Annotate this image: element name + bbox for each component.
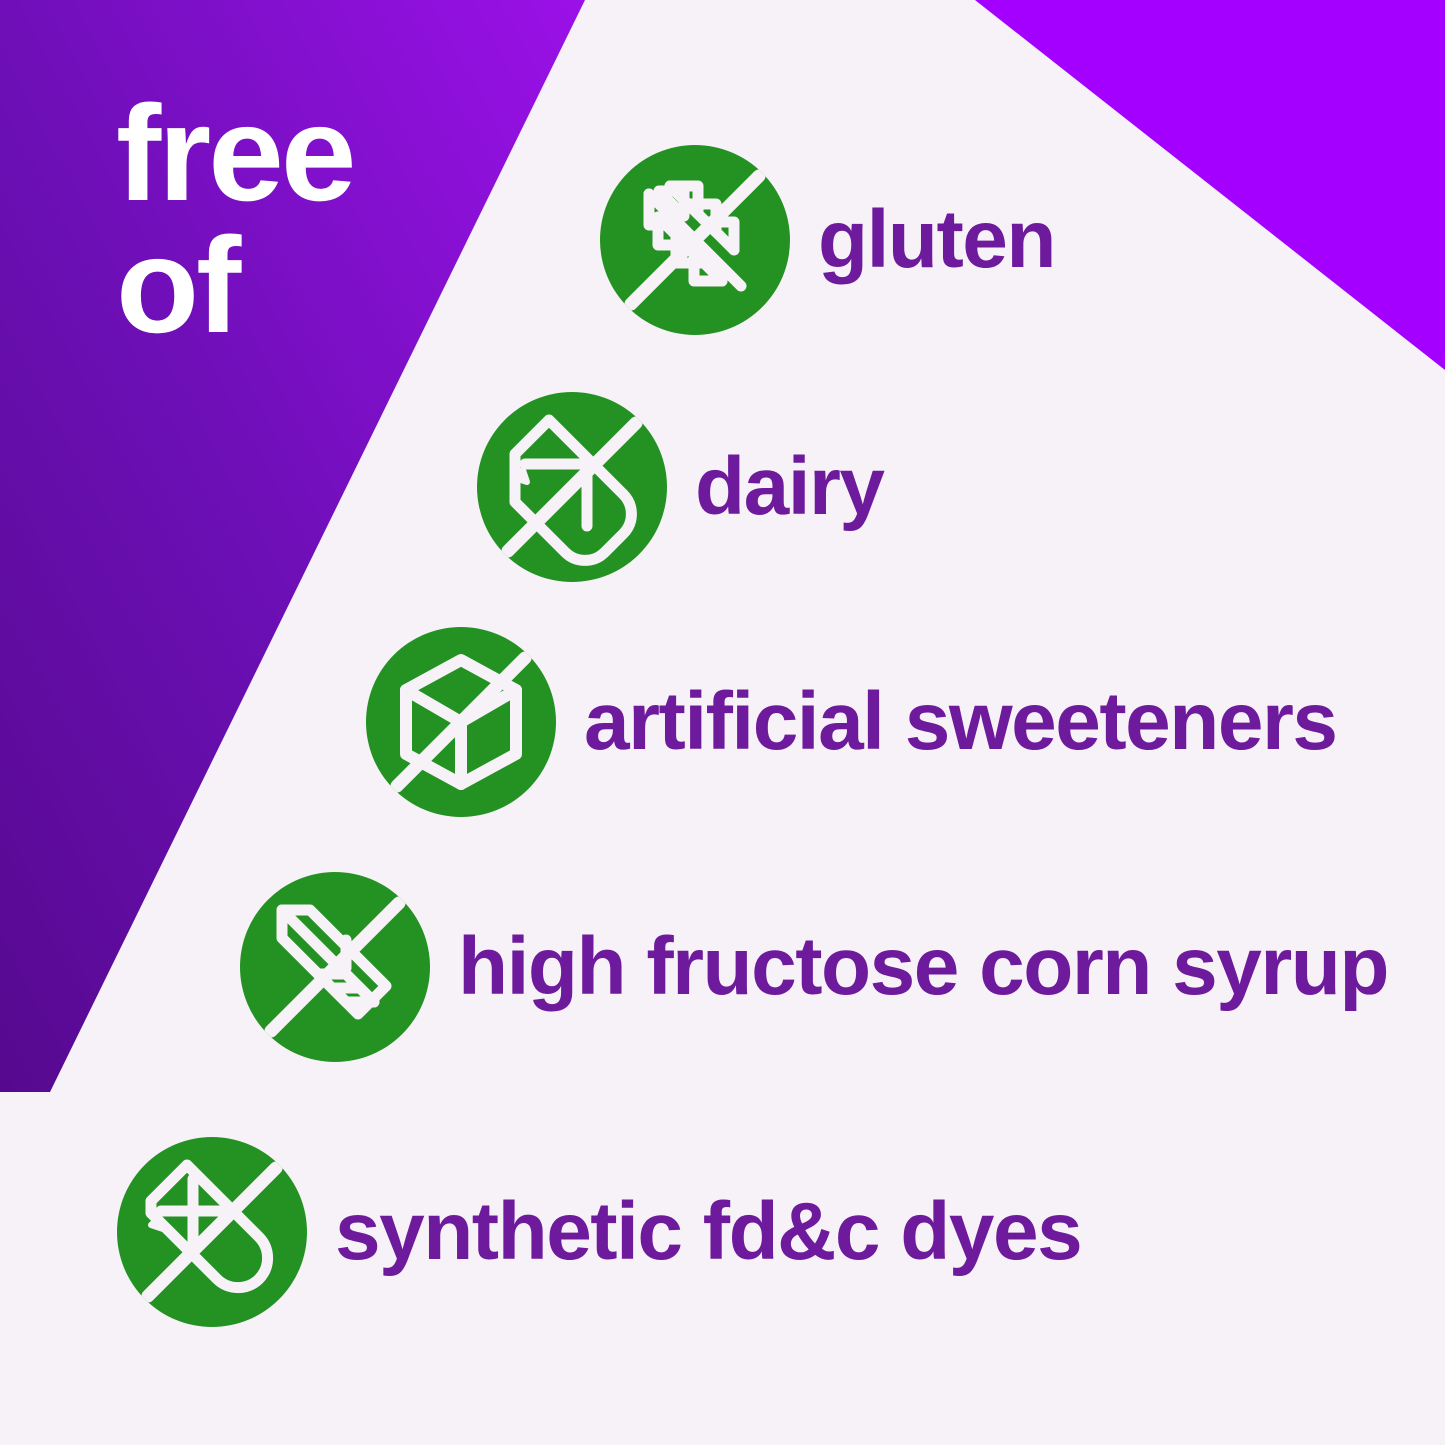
no-sugar-cube-icon bbox=[366, 627, 556, 817]
no-test-tube-icon bbox=[117, 1137, 307, 1327]
list-item-label: gluten bbox=[818, 199, 1055, 281]
free-of-poster: free of bbox=[0, 0, 1445, 1445]
list-item: gluten bbox=[600, 145, 1055, 335]
list-item-label: artificial sweeteners bbox=[584, 681, 1336, 763]
list-item-label: synthetic fd&c dyes bbox=[335, 1191, 1081, 1273]
list-item-label: dairy bbox=[695, 446, 884, 528]
list-item: high fructose corn syrup bbox=[240, 872, 1388, 1062]
free-of-list: gluten bbox=[0, 0, 1445, 1445]
list-item: dairy bbox=[477, 392, 884, 582]
list-item-label: high fructose corn syrup bbox=[458, 926, 1388, 1008]
list-item: synthetic fd&c dyes bbox=[117, 1137, 1081, 1327]
no-corn-stalk-icon bbox=[240, 872, 430, 1062]
list-item: artificial sweeteners bbox=[366, 627, 1336, 817]
no-milk-carton-icon bbox=[477, 392, 667, 582]
no-wheat-icon bbox=[600, 145, 790, 335]
